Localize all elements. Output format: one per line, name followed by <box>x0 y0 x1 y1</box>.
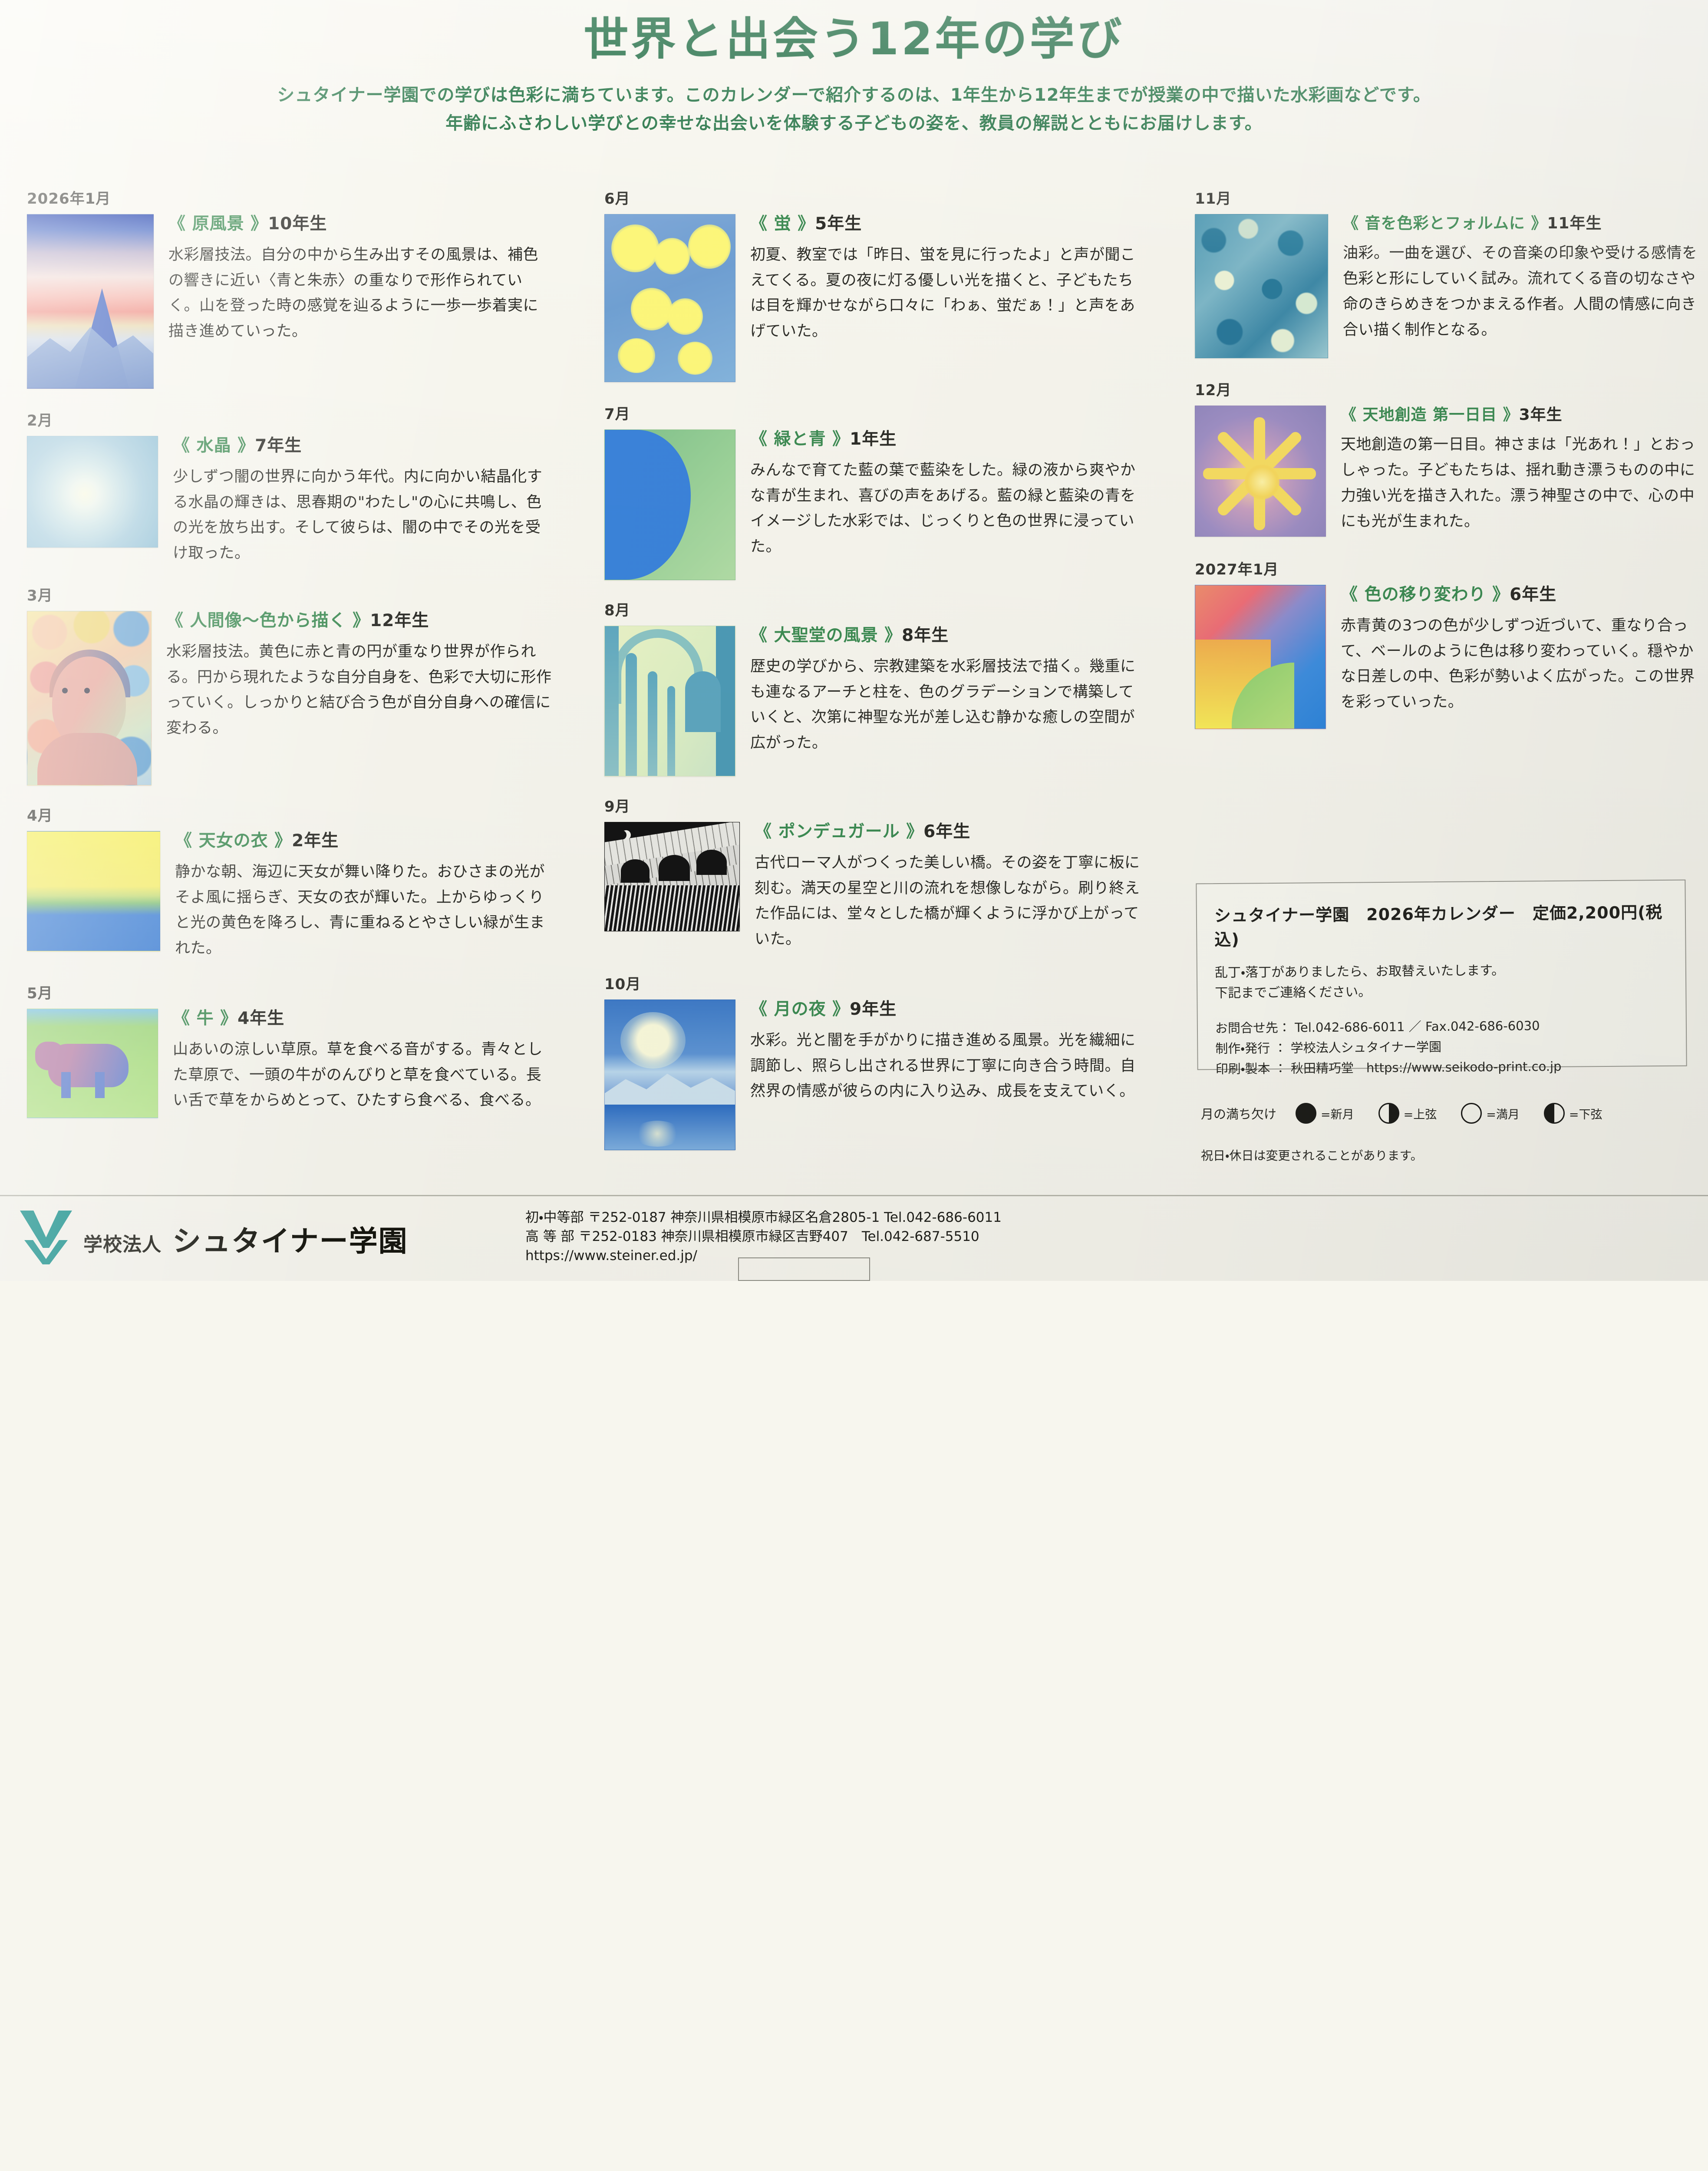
publisher-contact-block: お問合せ先： Tel.042-686-6011 ／ Fax.042-686-60… <box>1215 1015 1669 1079</box>
entry-title-line: 《 大聖堂の風景 》8年生 <box>750 626 1143 646</box>
firefly-glow <box>631 288 673 330</box>
light-core <box>1245 465 1279 499</box>
entry-title-line: 《 水晶 》7年生 <box>173 436 552 456</box>
entry-description: 水彩層技法。黄色に赤と青の円が重なり世界が作られる。円から現れたような自分自身を… <box>166 639 552 741</box>
cow-leg-rear <box>95 1072 105 1098</box>
artwork-moonlit-night-painting <box>604 1000 735 1150</box>
entry-title-line: 《 天地創造 第一日目 》3年生 <box>1341 406 1707 424</box>
entry-description: 少しずつ闇の世界に向かう年代。内に向かい結晶化する水晶の輝きは、思春期の"わたし… <box>173 464 552 566</box>
entry-description: 油彩。一曲を選び、その音楽の印象や受ける感情を色彩と形にしていく試み。流れてくる… <box>1343 241 1707 343</box>
entry-month: 2027年1月 <box>1195 558 1707 579</box>
address-line-upper-school: 高 等 部 〒252-0183 神奈川県相模原市緑区吉野407 Tel.042-… <box>525 1227 1002 1246</box>
entries-column-left: 2026年1月 《 原風景 》10年生 水彩層技法。自分の中から生み出すその風景… <box>27 187 552 1118</box>
steiner-school-logo-icon <box>20 1211 72 1267</box>
holiday-change-note: 祝日・休日は変更されることがあります。 <box>1201 1146 1423 1164</box>
artwork-title: 《 蛍 》 <box>750 214 815 234</box>
artwork-grade: 4年生 <box>237 1009 284 1028</box>
artwork-title: 《 天女の衣 》 <box>175 831 292 851</box>
moon-legend-item: =新月 <box>1296 1103 1354 1124</box>
artwork-mountain-sunset-painting <box>27 214 154 389</box>
entry-month: 5月 <box>27 981 552 1003</box>
entry-description: みんなで育てた藍の葉で藍染をした。緑の液から爽やかな青が生まれ、喜びの声をあげる… <box>750 458 1143 560</box>
cathedral-pillar <box>667 686 675 776</box>
artwork-green-and-blue-painting <box>604 429 735 580</box>
cathedral-pillar <box>648 671 657 776</box>
contact-publisher: 制作・発行 ： 学校法人シュタイナー学園 <box>1215 1035 1668 1059</box>
first-quarter-moon-icon <box>1378 1103 1399 1124</box>
footer-divider <box>0 1195 1708 1196</box>
entry-title-line: 《 蛍 》5年生 <box>750 214 1143 234</box>
school-name-main: シュタイナー学園 <box>172 1224 408 1258</box>
entry-title-line: 《 人間像〜色から描く 》12年生 <box>166 611 552 631</box>
artwork-cathedral-painting <box>604 626 735 776</box>
entry-month: 2月 <box>27 409 552 430</box>
firefly-glow <box>611 224 659 272</box>
firefly-glow <box>678 342 712 375</box>
river-water <box>605 885 739 931</box>
cathedral-window <box>685 671 721 732</box>
cow-leg-front <box>61 1072 71 1098</box>
artwork-celestial-robe-painting <box>27 831 160 951</box>
new-moon-icon <box>1296 1103 1316 1124</box>
bridge-arch <box>696 850 727 875</box>
crescent-moon-icon <box>617 830 626 840</box>
entry-title-line: 《 天女の衣 》2年生 <box>175 831 552 851</box>
artwork-grade: 7年生 <box>255 436 302 455</box>
mountain-ridge <box>605 1066 735 1105</box>
moon-legend-text: =上弦 <box>1404 1105 1437 1122</box>
entry-2026-09: 9月 《 ポンデュガール 》6年生 古代ローマ人がつくった美しい橋。 <box>604 795 1143 952</box>
entry-2026-02: 2月 《 水晶 》7年生 少しずつ闇の世界に向かう年代。内に向かい結晶化する水晶… <box>27 409 552 566</box>
portrait-body <box>37 733 137 785</box>
artwork-human-portrait-painting <box>27 611 152 785</box>
subtitle-line-1: シュタイナー学園での学びは色彩に満ちています。このカレンダーで紹介するのは、1年… <box>277 85 1431 105</box>
artwork-creation-first-day-painting <box>1195 406 1326 537</box>
moon-legend-label: 月の満ち欠け <box>1201 1104 1276 1122</box>
entry-month: 12月 <box>1195 378 1707 399</box>
page-header: 世界と出会う12年の学び シュタイナー学園での学びは色彩に満ちています。このカレ… <box>0 0 1708 138</box>
page-footer: 学校法人 シュタイナー学園 初・中等部 〒252-0187 神奈川県相模原市緑区… <box>0 1198 1708 1281</box>
artwork-cow-meadow-painting <box>27 1009 158 1118</box>
calendar-price-title: シュタイナー学園 2026年カレンダー 定価2,200円(税込) <box>1214 899 1668 950</box>
entry-title-line: 《 緑と青 》1年生 <box>750 429 1143 450</box>
moon-legend-item: =下弦 <box>1544 1103 1602 1124</box>
portrait-eye-right <box>84 688 90 693</box>
entry-2026-06: 6月 《 蛍 》5年生 初夏、教室では「昨日、蛍を見に行ったよ」と声が聞こえてく… <box>604 187 1143 382</box>
moon-reflection <box>633 1121 681 1147</box>
defect-replacement-note: 乱丁・落丁がありましたら、お取替えいたします。 下記までご連絡ください。 <box>1215 960 1668 1003</box>
entry-2026-04: 4月 《 天女の衣 》2年生 静かな朝、海辺に天女が舞い降りた。おひさまの光がそ… <box>27 804 552 961</box>
artwork-grade: 3年生 <box>1519 406 1563 424</box>
artwork-title: 《 音を色彩とフォルムに 》 <box>1343 214 1547 232</box>
entry-2026-03: 3月 《 人間像〜色から描く 》12年生 水彩層技法。黄色に赤と青の円が重なり世… <box>27 584 552 785</box>
contact-phone-fax: お問合せ先： Tel.042-686-6011 ／ Fax.042-686-60… <box>1215 1015 1668 1039</box>
artwork-grade: 2年生 <box>292 831 339 851</box>
artwork-title: 《 ポンデュガール 》 <box>755 822 923 841</box>
firefly-glow <box>667 298 703 335</box>
address-line-lower-school: 初・中等部 〒252-0187 神奈川県相模原市緑区名倉2805-1 Tel.0… <box>525 1208 1002 1227</box>
artwork-grade: 8年生 <box>902 626 949 645</box>
entry-month: 3月 <box>27 584 552 605</box>
entry-description: 歴史の学びから、宗教建築を水彩層技法で描く。幾重にも連なるアーチと柱を、色のグラ… <box>750 654 1143 756</box>
entry-month: 6月 <box>604 187 1143 208</box>
entry-month: 10月 <box>604 972 1143 993</box>
artwork-grade: 5年生 <box>815 214 862 234</box>
artwork-title: 《 水晶 》 <box>173 436 255 455</box>
portrait-eye-left <box>62 688 68 693</box>
entry-month: 2026年1月 <box>27 187 552 208</box>
artwork-music-as-color-painting <box>1195 214 1328 358</box>
school-legal-prefix: 学校法人 <box>83 1234 162 1256</box>
entry-description: 赤青黄の3つの色が少しずつ近づいて、重なり合って、ベールのように色は移り変わって… <box>1341 613 1707 715</box>
entry-title-line: 《 音を色彩とフォルムに 》11年生 <box>1343 214 1707 233</box>
website-button-outline[interactable] <box>738 1257 870 1281</box>
entry-description: 水彩層技法。自分の中から生み出すその風景は、補色の響きに近い〈青と朱赤〉の重なり… <box>168 242 552 344</box>
entry-2026-01: 2026年1月 《 原風景 》10年生 水彩層技法。自分の中から生み出すその風景… <box>27 187 552 389</box>
cow-head <box>35 1042 65 1070</box>
subtitle-line-2: 年齢にふさわしい学びとの幸せな出会いを体験する子どもの姿を、教員の解説とともにお… <box>0 109 1708 138</box>
artwork-title: 《 天地創造 第一日目 》 <box>1341 406 1519 424</box>
school-address-block: 初・中等部 〒252-0187 神奈川県相模原市緑区名倉2805-1 Tel.0… <box>525 1208 1002 1265</box>
moon-legend-item: =上弦 <box>1378 1103 1437 1124</box>
firefly-glow <box>618 338 655 373</box>
bridge-arch <box>659 855 690 881</box>
last-quarter-moon-icon <box>1544 1103 1565 1124</box>
artwork-grade: 11年生 <box>1547 214 1602 232</box>
firefly-glow <box>688 224 731 269</box>
entry-title-line: 《 ポンデュガール 》6年生 <box>755 822 1143 842</box>
entry-month: 11月 <box>1195 187 1707 208</box>
entry-month: 7月 <box>604 402 1143 423</box>
artwork-grade: 1年生 <box>850 429 897 449</box>
entries-column-right: 11月 《 音を色彩とフォルムに 》11年生 油彩。一曲を選び、その音楽の印象や… <box>1195 187 1707 729</box>
moon-legend-text: =新月 <box>1321 1105 1354 1122</box>
artwork-grade: 10年生 <box>268 214 327 234</box>
entries-column-middle: 6月 《 蛍 》5年生 初夏、教室では「昨日、蛍を見に行ったよ」と声が聞こえてく… <box>604 187 1143 1150</box>
artwork-title: 《 原風景 》 <box>168 214 268 234</box>
artwork-grade: 9年生 <box>850 1000 897 1019</box>
full-moon-icon <box>1461 1103 1482 1124</box>
entry-month: 4月 <box>27 804 552 825</box>
entry-2026-05: 5月 《 牛 》4年生 山あいの涼しい草原。草を食べる音がする。青々とした草原で… <box>27 981 552 1118</box>
entry-title-line: 《 原風景 》10年生 <box>168 214 552 234</box>
entry-description: 水彩。光と闇を手がかりに描き進める風景。光を繊細に調節し、照らし出される世界に丁… <box>750 1028 1143 1104</box>
entry-month: 9月 <box>604 795 1143 816</box>
page-title: 世界と出会う12年の学び <box>0 15 1708 64</box>
moon-legend-item: =満月 <box>1461 1103 1520 1124</box>
entry-title-line: 《 牛 》4年生 <box>173 1009 552 1029</box>
artwork-color-transition-painting <box>1195 585 1326 729</box>
artwork-crystal-light-painting <box>27 436 158 548</box>
artwork-grade: 6年生 <box>1510 585 1556 604</box>
entry-2026-10: 10月 《 月の夜 》9年生 水彩。光と闇を手がかりに描き進める風景。光を繊細に… <box>604 972 1143 1150</box>
entry-description: 静かな朝、海辺に天女が舞い降りた。おひさまの光がそよ風に揺らぎ、天女の衣が輝いた… <box>175 859 552 961</box>
cathedral-pillar <box>626 653 637 776</box>
entry-description: 天地創造の第一日目。神さまは「光あれ！」とおっしゃった。子どもたちは、揺れ動き漂… <box>1341 432 1707 534</box>
school-name: 学校法人 シュタイナー学園 <box>83 1218 408 1260</box>
entry-description: 古代ローマ人がつくった美しい橋。その姿を丁寧に板に刻む。満天の星空と川の流れを想… <box>755 850 1143 952</box>
artwork-firefly-painting <box>604 214 735 382</box>
contact-printer: 印刷・製本 ： 秋田精巧堂 https://www.seikodo-print.… <box>1216 1056 1669 1079</box>
firefly-glow <box>654 238 690 274</box>
artwork-title: 《 色の移り変わり 》 <box>1341 585 1510 604</box>
entry-2026-08: 8月 《 大聖堂の風景 》8年生 歴史の学びから、宗教建築を水彩層技法で描く。幾… <box>604 598 1143 776</box>
artwork-title: 《 大聖堂の風景 》 <box>750 626 902 645</box>
page-subtitle: シュタイナー学園での学びは色彩に満ちています。このカレンダーで紹介するのは、1年… <box>0 81 1708 138</box>
entry-2026-07: 7月 《 緑と青 》1年生 みんなで育てた藍の葉で藍染をした。緑の液から爽やかな… <box>604 402 1143 580</box>
entry-month: 8月 <box>604 598 1143 620</box>
entry-title-line: 《 月の夜 》9年生 <box>750 1000 1143 1020</box>
entry-2026-11: 11月 《 音を色彩とフォルムに 》11年生 油彩。一曲を選び、その音楽の印象や… <box>1195 187 1707 358</box>
artwork-grade: 6年生 <box>923 822 970 841</box>
artwork-title: 《 緑と青 》 <box>750 429 850 449</box>
note-line-2: 下記までご連絡ください。 <box>1215 980 1668 1003</box>
school-logo-block: 学校法人 シュタイナー学園 <box>20 1211 408 1267</box>
moon-legend-text: =満月 <box>1486 1105 1520 1122</box>
cathedral-pillar <box>605 626 619 776</box>
note-line-1: 乱丁・落丁がありましたら、お取替えいたします。 <box>1215 960 1668 983</box>
artwork-title: 《 牛 》 <box>173 1009 237 1028</box>
artwork-grade: 12年生 <box>370 611 429 630</box>
artwork-title: 《 月の夜 》 <box>750 1000 850 1019</box>
bridge-arch <box>621 859 650 883</box>
moon-glow <box>620 1012 686 1069</box>
entry-description: 山あいの涼しい草原。草を食べる音がする。青々とした草原で、一頭の牛がのんびりと草… <box>173 1037 552 1113</box>
artwork-pont-du-gard-woodcut <box>604 822 740 931</box>
moon-phase-legend: 月の満ち欠け =新月 =上弦 =満月 =下弦 <box>1201 1103 1700 1124</box>
moon-legend-text: =下弦 <box>1569 1105 1602 1122</box>
entry-2026-12: 12月 《 天地創造 第一日目 》3年生 天地 <box>1195 378 1707 537</box>
entry-2027-01: 2027年1月 《 色の移り変わり 》6年生 赤青黄の3つの色が少しずつ近づいて… <box>1195 558 1707 729</box>
entry-description: 初夏、教室では「昨日、蛍を見に行ったよ」と声が聞こえてくる。夏の夜に灯る優しい光… <box>750 242 1143 344</box>
calendar-info-box: シュタイナー学園 2026年カレンダー 定価2,200円(税込) 乱丁・落丁があ… <box>1196 880 1687 1070</box>
artwork-title: 《 人間像〜色から描く 》 <box>166 611 370 630</box>
entry-title-line: 《 色の移り変わり 》6年生 <box>1341 585 1707 605</box>
